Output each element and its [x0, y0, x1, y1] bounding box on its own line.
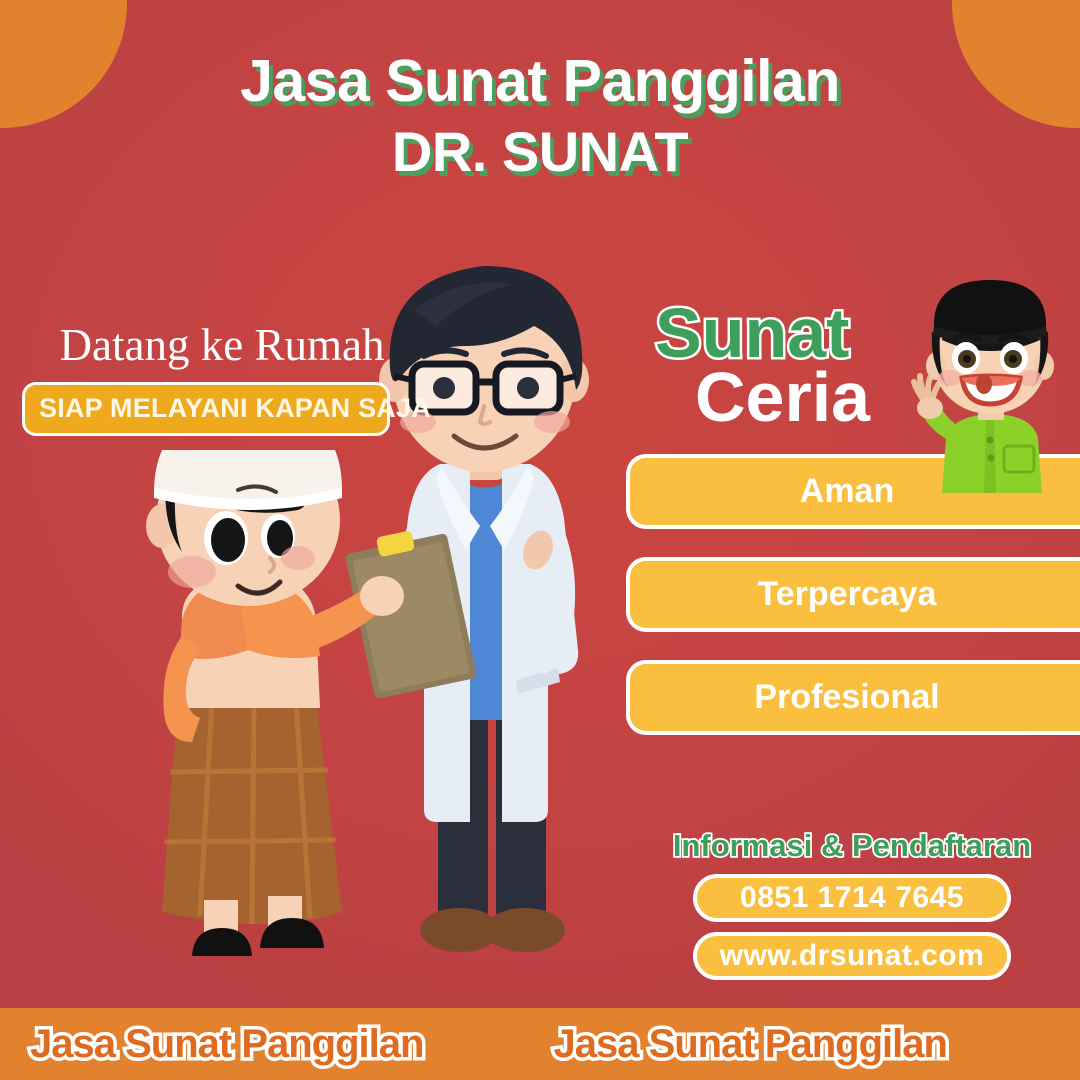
feature-pill-profesional: Profesional — [626, 660, 1080, 735]
poster-title-line-2: DR. SUNAT — [0, 124, 1080, 180]
contact-heading: Informasi & Pendaftaran — [642, 828, 1062, 864]
feature-pill-terpercaya: Terpercaya — [626, 557, 1080, 632]
ready-anytime-badge: SIAP MELAYANI KAPAN SAJA — [22, 382, 390, 436]
poster-canvas: Jasa Sunat Panggilan DR. SUNAT — [0, 0, 1080, 1080]
feature-list: Aman Terpercaya Profesional — [610, 454, 1080, 735]
home-visit-heading: Datang ke Rumah — [22, 322, 422, 369]
boy-with-peci-illustration — [120, 450, 420, 980]
feature-label: Terpercaya — [758, 575, 937, 614]
feature-label: Aman — [800, 472, 894, 511]
poster-title-line-1: Jasa Sunat Panggilan — [0, 52, 1080, 111]
poster-footer: Jasa Sunat Panggilan Jasa Sunat Panggila… — [0, 1008, 1080, 1080]
website-pill[interactable]: www.drsunat.com — [693, 932, 1011, 980]
home-visit-block: Datang ke Rumah SIAP MELAYANI KAPAN SAJA — [22, 322, 422, 436]
footer-text-right: Jasa Sunat Panggilan — [553, 1022, 946, 1067]
phone-number-pill[interactable]: 0851 1714 7645 — [693, 874, 1011, 922]
poster-header: Jasa Sunat Panggilan DR. SUNAT — [0, 52, 1080, 180]
feature-label: Profesional — [754, 678, 939, 717]
ready-anytime-badge-label: SIAP MELAYANI KAPAN SAJA — [39, 393, 431, 423]
website-label: www.drsunat.com — [720, 939, 985, 973]
waving-boy-illustration — [900, 278, 1080, 493]
phone-number-label: 0851 1714 7645 — [740, 881, 964, 915]
footer-text-left: Jasa Sunat Panggilan — [30, 1022, 423, 1067]
contact-block: Informasi & Pendaftaran 0851 1714 7645 w… — [642, 828, 1062, 980]
